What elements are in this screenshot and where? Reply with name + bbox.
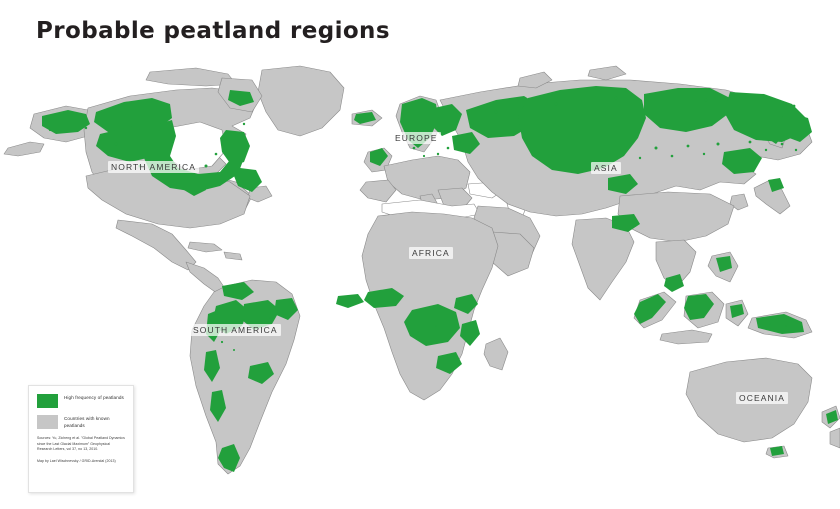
page-title: Probable peatland regions bbox=[36, 18, 390, 44]
landmass-madagascar bbox=[484, 338, 508, 370]
landmass-cuba bbox=[188, 242, 222, 252]
legend-label-high-frequency: High frequency of peatlands bbox=[64, 394, 124, 402]
peatland-guinea-coast bbox=[336, 294, 364, 308]
map-page: Probable peatland regions bbox=[0, 0, 840, 509]
continent-label-asia: ASIA bbox=[591, 162, 621, 174]
continent-label-africa: AFRICA bbox=[409, 247, 453, 259]
landmass-iberia bbox=[360, 180, 396, 202]
landmass-severnaya bbox=[588, 66, 626, 80]
landmass-hispaniola bbox=[224, 252, 242, 260]
continent-label-south-america: SOUTH AMERICA bbox=[190, 324, 281, 336]
peatland-green-swatch bbox=[37, 394, 58, 408]
landmass-java bbox=[660, 330, 712, 344]
landmass-greenland bbox=[258, 66, 344, 136]
continent-label-europe: EUROPE bbox=[392, 132, 441, 144]
country-grey-swatch bbox=[37, 415, 58, 429]
legend-map-credit: Map by Lael Wischnevsky / GRID-Arendal (… bbox=[37, 459, 126, 464]
legend-label-known-peatlands: Countries with known peatlands bbox=[64, 415, 126, 429]
legend-item-known-peatlands: Countries with known peatlands bbox=[37, 415, 126, 429]
legend-item-high-frequency: High frequency of peatlands bbox=[37, 394, 126, 408]
legend-source-citation: Sources: Yu, Zicheng et al. "Global Peat… bbox=[37, 436, 126, 452]
map-legend: High frequency of peatlands Countries wi… bbox=[28, 385, 134, 493]
landmass-new-zealand-south bbox=[830, 428, 840, 448]
continent-label-oceania: OCEANIA bbox=[736, 392, 788, 404]
continent-label-north-america: NORTH AMERICA bbox=[108, 161, 199, 173]
landmass-aleutians bbox=[4, 142, 44, 156]
